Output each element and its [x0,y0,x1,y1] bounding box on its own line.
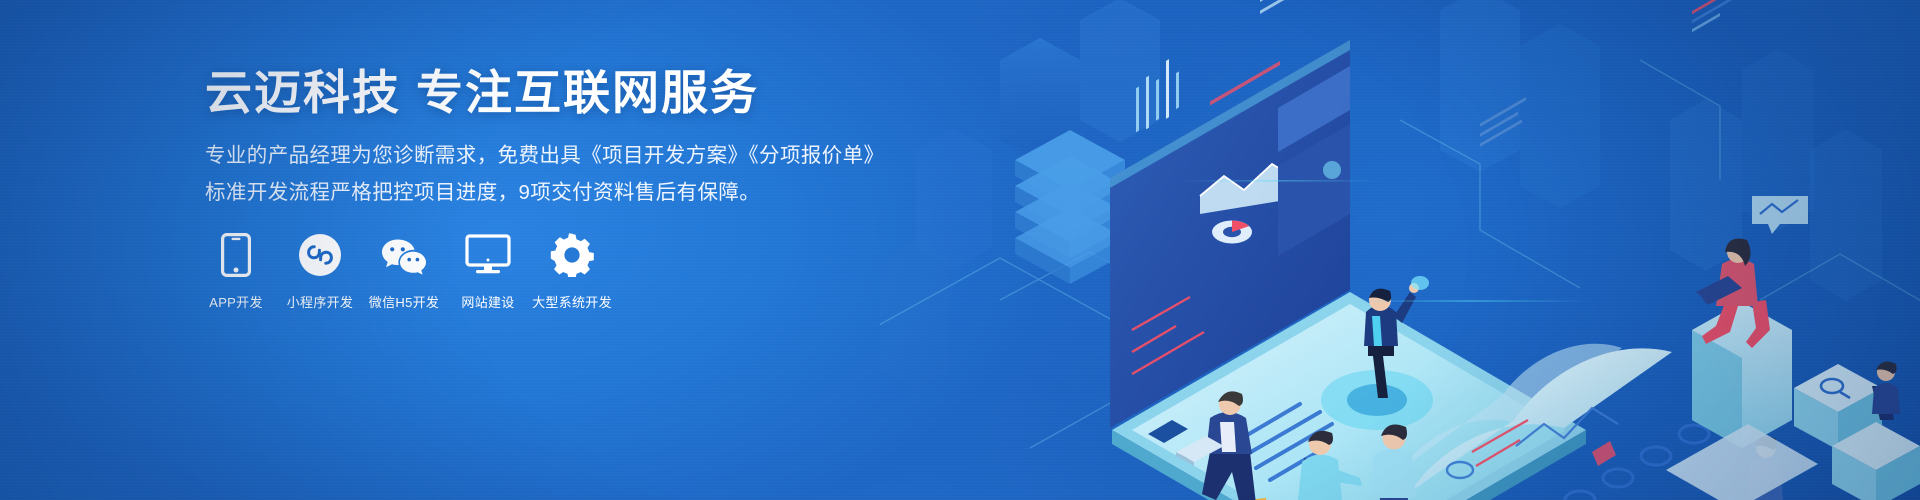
service-label: 大型系统开发 [532,292,612,311]
server-stack [1015,130,1125,284]
monitor-icon [465,232,511,278]
banner-subtitle-line-1: 专业的产品经理为您诊断需求，免费出具《项目开发方案》《分项报价单》 [205,138,965,174]
page-title: 云迈科技 专注互联网服务 [205,66,965,120]
mini-program-icon [298,232,342,278]
banner-subtitle-line-2: 标准开发流程严格把控项目进度，9项交付资料售后有保障。 [205,175,965,211]
service-label: 小程序开发 [287,292,354,311]
service-label: 微信H5开发 [369,292,439,311]
service-item-website[interactable]: 网站建设 [452,232,524,311]
service-item-mini-program[interactable]: 小程序开发 [284,232,356,311]
service-label: 网站建设 [461,292,514,311]
donut-chart [1212,221,1252,244]
service-item-app[interactable]: APP开发 [200,232,272,311]
service-item-wechat-h5[interactable]: 微信H5开发 [368,232,440,311]
service-list: APP开发 小程序开发 [200,232,620,311]
hero-banner: 云迈科技 专注互联网服务 专业的产品经理为您诊断需求，免费出具《项目开发方案》《… [0,0,1920,500]
gear-icon [550,232,594,278]
banner-copy: 云迈科技 专注互联网服务 专业的产品经理为您诊断需求，免费出具《项目开发方案》《… [205,66,965,211]
service-item-large-system[interactable]: 大型系统开发 [536,232,608,311]
mobile-phone-icon [221,232,251,278]
isometric-tech-teamwork-illustration [880,0,1920,500]
wechat-icon [379,232,429,278]
service-label: APP开发 [209,292,263,311]
